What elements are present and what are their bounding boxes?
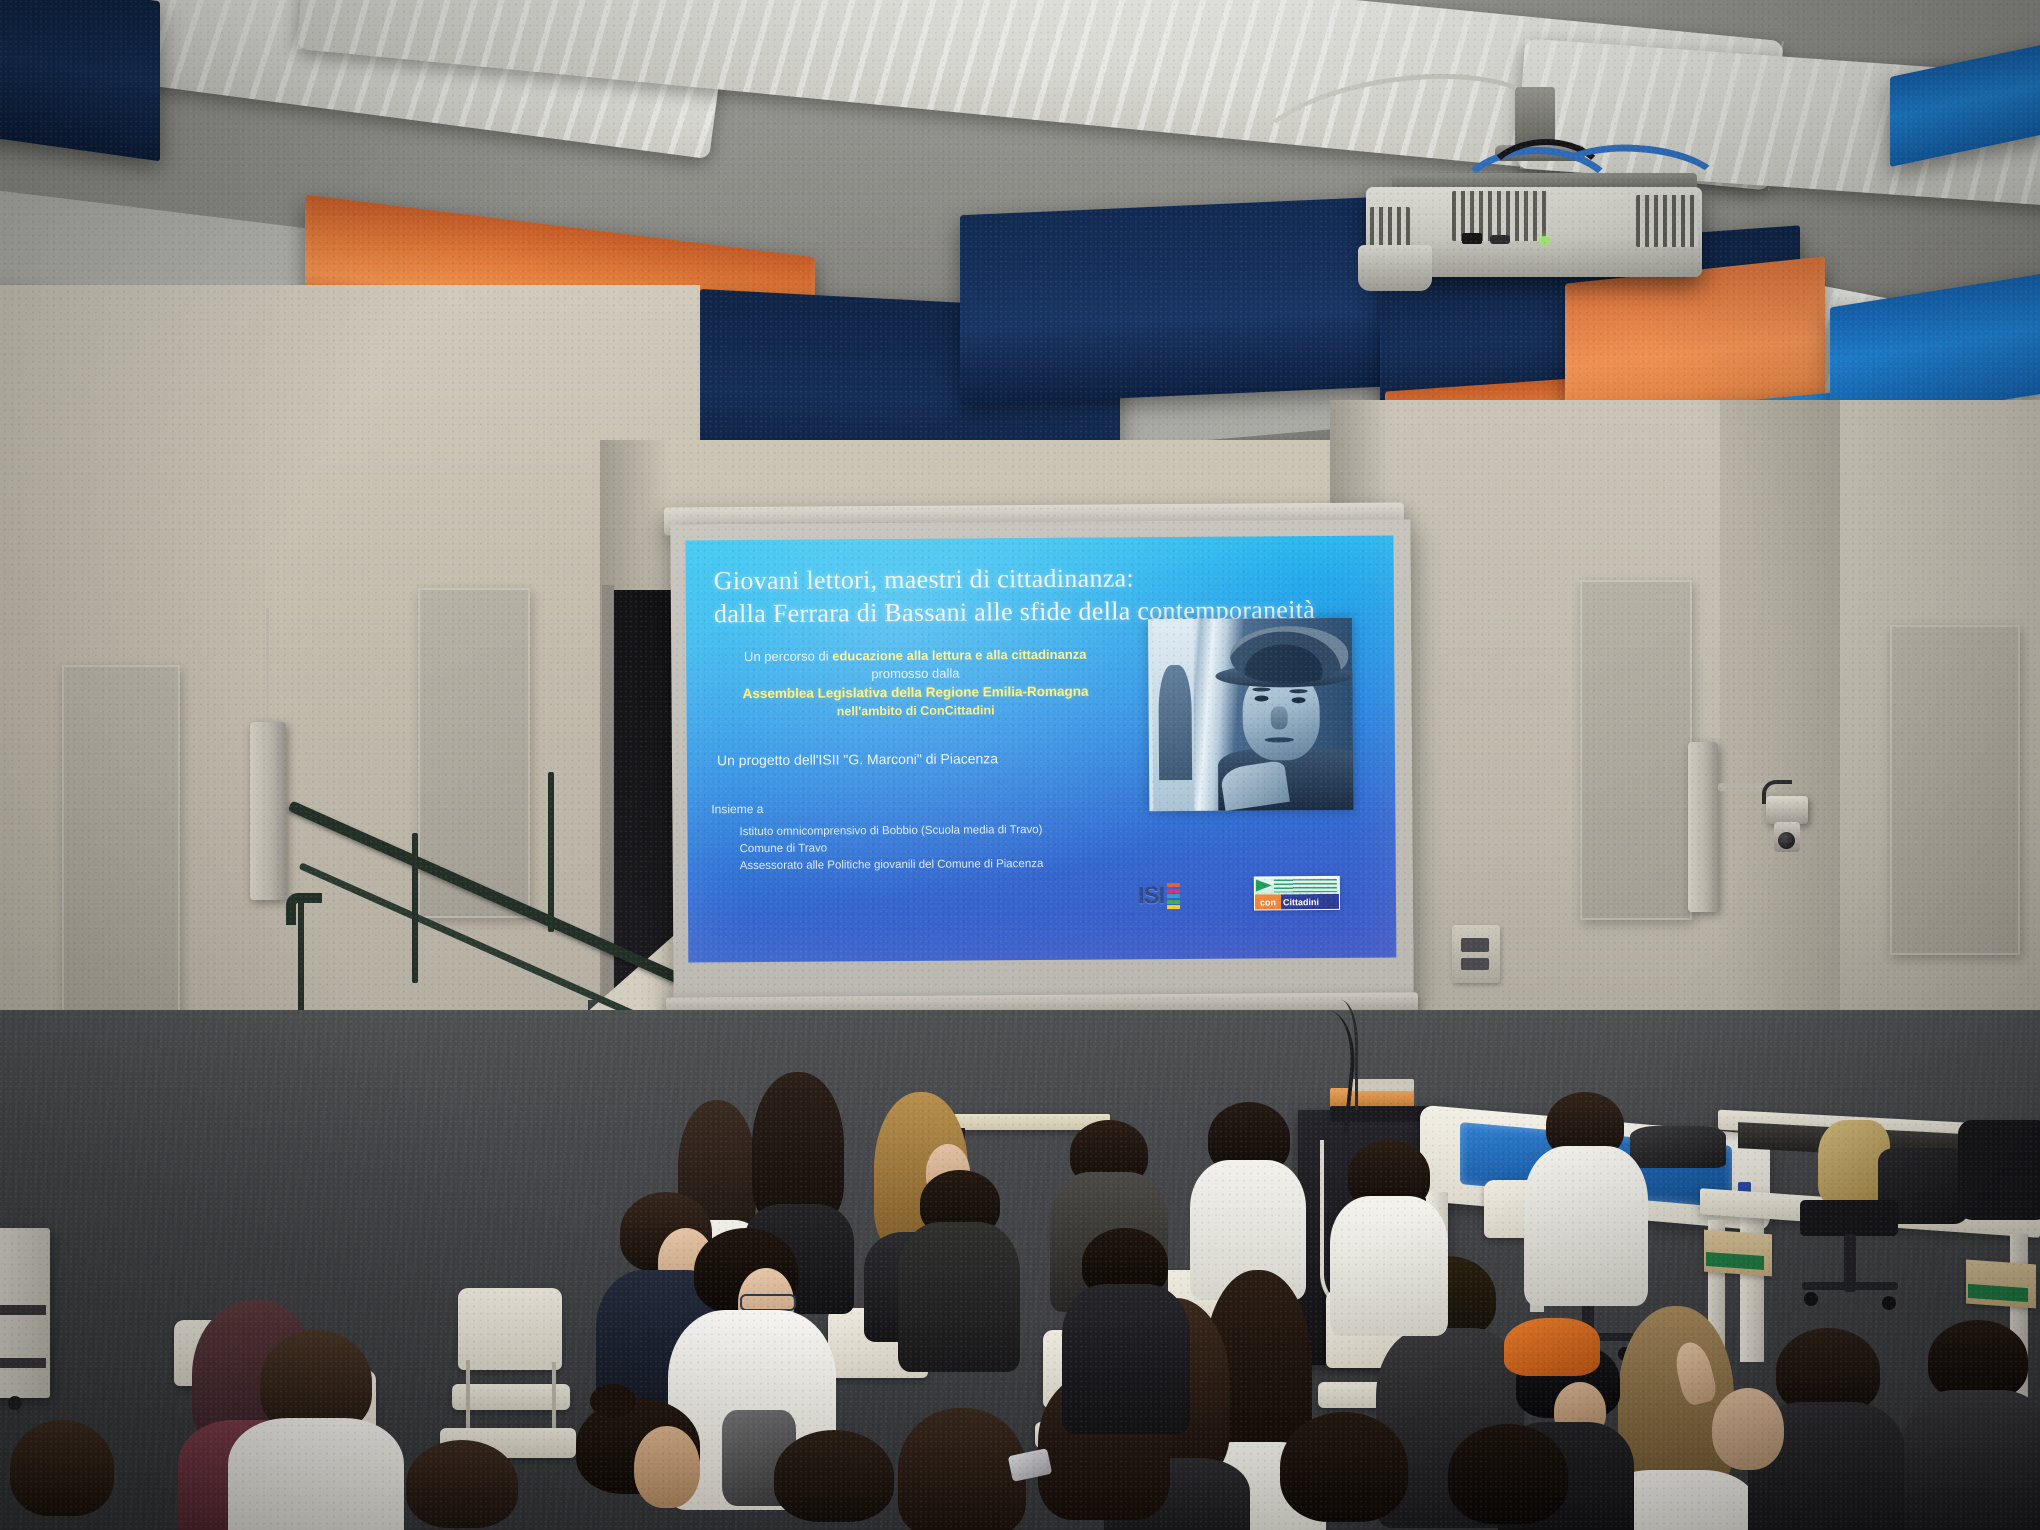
subtitle-highlight: educazione alla lettura e alla cittadina… (832, 647, 1086, 664)
office-chair-wheel (1882, 1296, 1896, 1310)
person-eyeglasses-icon (740, 1294, 796, 1311)
audience-person (1258, 1412, 1438, 1530)
projector-cable-blue-2 (1548, 139, 1727, 225)
audience-person (228, 1330, 408, 1530)
projector-lens-housing (1358, 245, 1432, 291)
audience-person (898, 1170, 1022, 1360)
isi-logo: ISI (1138, 882, 1181, 910)
photo-eye-right (1291, 697, 1305, 703)
person-torso (1330, 1196, 1448, 1336)
person-hair (898, 1408, 1026, 1530)
wall-outlet-slot (1461, 938, 1489, 952)
audience-person (1692, 1378, 1822, 1530)
person-hair (1280, 1412, 1408, 1522)
low-cabinet-wheel (8, 1396, 22, 1410)
person-orange-hood (1504, 1318, 1600, 1376)
person-hair (752, 1072, 844, 1224)
audience-person (1062, 1228, 1192, 1418)
wall-panel-right-1 (1580, 580, 1692, 920)
subtitle-prefix: Un percorso di (744, 648, 832, 664)
office-chair-2[interactable] (1800, 1200, 1910, 1330)
av-rack-device-grey (1352, 1079, 1414, 1091)
chair-back (458, 1288, 562, 1370)
office-chair-seat (1958, 1120, 2040, 1220)
concittadini-triangle-icon (1256, 879, 1272, 891)
person-hair (1928, 1320, 2028, 1400)
projector-assembly (1330, 95, 1710, 295)
person-torso (1524, 1146, 1648, 1306)
photo-fedora-hat (1230, 626, 1349, 684)
concittadini-suffix: Cittadini (1281, 894, 1339, 909)
slide-subtitle-ambito: nell'ambito di ConCittadini (711, 700, 1121, 721)
audience-person (1904, 1320, 2040, 1530)
office-chair-arm (1802, 1282, 1898, 1290)
isi-bar-3 (1167, 894, 1180, 898)
auditorium-photo: Giovani lettori, maestri di cittadinanza… (0, 0, 2040, 1530)
stair-post-1 (412, 833, 418, 983)
photo-nose (1271, 707, 1287, 730)
audience-person (1426, 1424, 1596, 1530)
slide-partners-heading: Insieme a (711, 802, 763, 816)
wall-panel-right-2 (1890, 625, 2020, 955)
projection-screen: Giovani lettori, maestri di cittadinanza… (670, 519, 1413, 1004)
wall-outlet-panel[interactable] (1452, 925, 1500, 983)
person-torso (228, 1418, 404, 1530)
person-hair (774, 1430, 894, 1522)
slide-subtitle-block: Un percorso di educazione alla lettura e… (710, 645, 1120, 721)
person-hair (1448, 1424, 1568, 1524)
low-cabinet-slot-2 (0, 1358, 46, 1368)
person-hair (406, 1440, 518, 1528)
audience-person (388, 1440, 548, 1530)
concittadini-logo-wordmark: con Cittadini (1255, 894, 1339, 910)
isi-bar-1 (1167, 883, 1180, 887)
person-torso (1904, 1390, 2040, 1530)
camera-lens-glass (1778, 832, 1795, 849)
isi-bar-2 (1167, 889, 1180, 893)
person-torso (898, 1222, 1020, 1372)
audience-person (0, 1420, 150, 1530)
slide-project-line: Un progetto dell'ISII "G. Marconi" di Pi… (717, 750, 998, 768)
person-face (1712, 1388, 1784, 1470)
concittadini-prefix: con (1255, 894, 1281, 909)
slide-subtitle-line-1: Un percorso di educazione alla lettura e… (710, 645, 1120, 666)
slide-subtitle-assembly: Assemblea Legislativa della Regione Emil… (710, 681, 1120, 703)
person-face (634, 1426, 700, 1508)
person-torso (1062, 1284, 1190, 1434)
isi-bar-4 (1167, 900, 1180, 904)
speaker-cable-right (1700, 660, 1703, 745)
stair-handrail-top[interactable] (288, 800, 731, 1005)
isi-bar-5 (1167, 905, 1180, 909)
av-rack-cable-3 (1315, 1000, 1358, 1110)
audience-person (1330, 1140, 1450, 1320)
concittadini-logo-top (1255, 877, 1339, 895)
presentation-slide: Giovani lettori, maestri di cittadinanza… (685, 536, 1396, 963)
photo-brow-right (1289, 689, 1307, 693)
office-chair-3[interactable] (1958, 1120, 2040, 1240)
concittadini-logo: con Cittadini (1254, 876, 1340, 911)
list-item: Assessorato alle Politiche giovanili del… (740, 855, 1160, 875)
office-chair-seat (1800, 1200, 1898, 1236)
office-chair-wheel (1804, 1292, 1818, 1306)
bassani-portrait-photo (1148, 618, 1353, 811)
wall-outlet-slot-2 (1461, 958, 1489, 970)
isi-logo-text: ISI (1138, 882, 1165, 910)
stair-rail-return (286, 893, 322, 925)
low-cabinet-slot (0, 1305, 46, 1315)
stair-post-2 (548, 772, 554, 932)
audience-person (1190, 1102, 1308, 1292)
isi-logo-colorbars (1167, 883, 1180, 909)
camera-cable (1762, 780, 1792, 804)
audience-person (556, 1398, 736, 1530)
column-speaker-right (1688, 742, 1718, 912)
photo-mouth (1265, 737, 1294, 742)
slide-partners-list: Istituto omnicomprensivo di Bobbio (Scuo… (739, 821, 1159, 875)
person-hair-bun-knot (590, 1384, 636, 1418)
audience-person (1524, 1092, 1650, 1302)
person-hair (10, 1420, 114, 1516)
photo-background-figure (1159, 665, 1192, 780)
concittadini-lines-icon (1274, 879, 1337, 892)
slide-title-line-1: Giovani lettori, maestri di cittadinanza… (714, 560, 1374, 598)
